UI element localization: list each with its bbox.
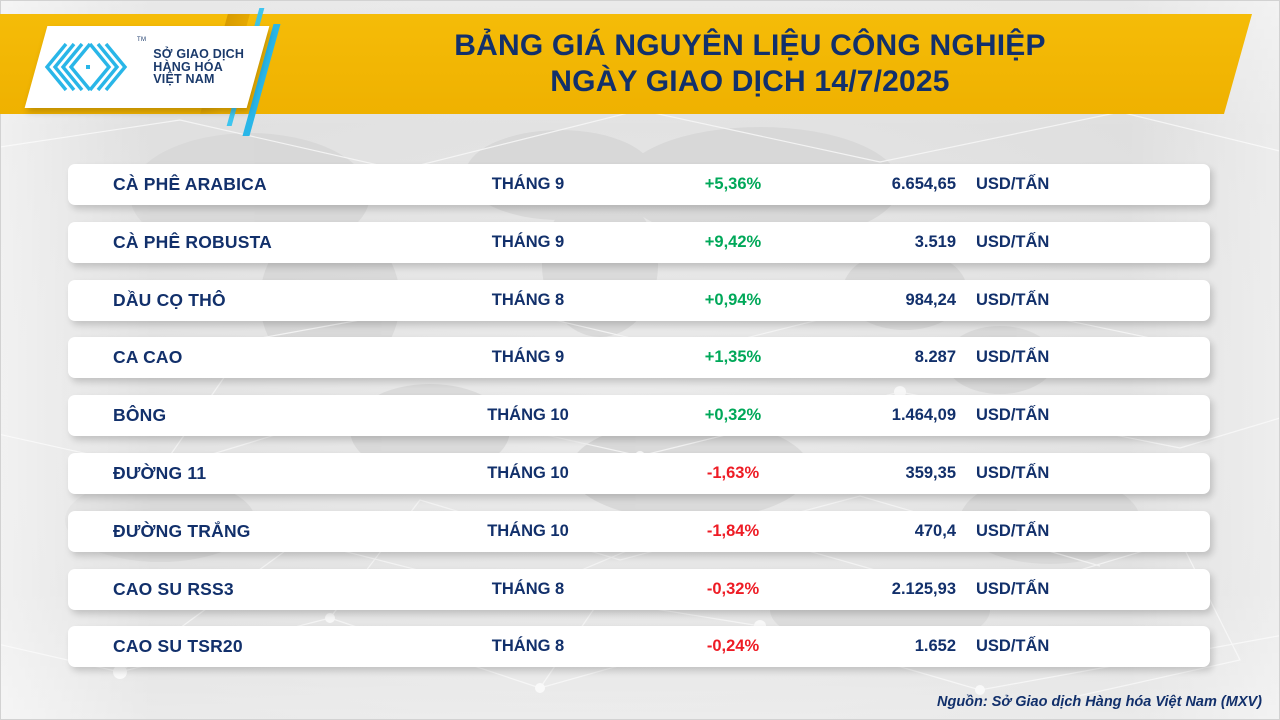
commodity-name: ĐƯỜNG TRẮNG <box>113 521 251 542</box>
contract-month: THÁNG 9 <box>408 233 648 252</box>
logo-wordmark: SỞ GIAO DỊCH HÀNG HÓA VIỆT NAM <box>153 48 244 86</box>
trademark-symbol: TM <box>137 37 146 43</box>
price-unit: USD/TẤN <box>976 406 1049 425</box>
table-row[interactable]: CAO SU RSS3THÁNG 8-0,32%2.125,93USD/TẤN <box>68 569 1210 610</box>
logo-line-1: SỞ GIAO DỊCH <box>153 48 244 61</box>
contract-month: THÁNG 10 <box>408 406 648 425</box>
commodity-name: BÔNG <box>113 405 166 426</box>
table-row[interactable]: CAO SU TSR20THÁNG 8-0,24%1.652USD/TẤN <box>68 626 1210 667</box>
price-value: 1.464,09 <box>748 406 956 425</box>
contract-month: THÁNG 10 <box>408 522 648 541</box>
price-board-screen: TM SỞ GIAO DỊCH HÀNG HÓA VIỆT NAM BẢNG G… <box>0 0 1280 720</box>
mxv-logo-icon <box>44 40 130 94</box>
contract-month: THÁNG 8 <box>408 637 648 656</box>
price-table: CÀ PHÊ ARABICATHÁNG 9+5,36%6.654,65USD/T… <box>68 164 1210 684</box>
price-value: 3.519 <box>748 233 956 252</box>
table-row[interactable]: ĐƯỜNG TRẮNGTHÁNG 10-1,84%470,4USD/TẤN <box>68 511 1210 552</box>
price-value: 2.125,93 <box>748 580 956 599</box>
table-row[interactable]: CA CAOTHÁNG 9+1,35%8.287USD/TẤN <box>68 337 1210 378</box>
price-value: 6.654,65 <box>748 175 956 194</box>
header-banner: TM SỞ GIAO DỊCH HÀNG HÓA VIỆT NAM BẢNG G… <box>0 14 1280 114</box>
contract-month: THÁNG 10 <box>408 464 648 483</box>
price-unit: USD/TẤN <box>976 464 1049 483</box>
logo-line-3: VIỆT NAM <box>153 73 244 86</box>
table-row[interactable]: ĐƯỜNG 11THÁNG 10-1,63%359,35USD/TẤN <box>68 453 1210 494</box>
table-row[interactable]: BÔNGTHÁNG 10+0,32%1.464,09USD/TẤN <box>68 395 1210 436</box>
title-line-1: BẢNG GIÁ NGUYÊN LIỆU CÔNG NGHIỆP <box>454 29 1045 63</box>
price-unit: USD/TẤN <box>976 348 1049 367</box>
commodity-name: DẦU CỌ THÔ <box>113 290 226 311</box>
table-row[interactable]: DẦU CỌ THÔTHÁNG 8+0,94%984,24USD/TẤN <box>68 280 1210 321</box>
price-unit: USD/TẤN <box>976 580 1049 599</box>
price-value: 8.287 <box>748 348 956 367</box>
source-note: Nguồn: Sở Giao dịch Hàng hóa Việt Nam (M… <box>937 694 1262 710</box>
contract-month: THÁNG 8 <box>408 580 648 599</box>
contract-month: THÁNG 9 <box>408 175 648 194</box>
commodity-name: CÀ PHÊ ARABICA <box>113 174 267 195</box>
commodity-name: CAO SU RSS3 <box>113 579 234 600</box>
table-row[interactable]: CÀ PHÊ ARABICATHÁNG 9+5,36%6.654,65USD/T… <box>68 164 1210 205</box>
price-unit: USD/TẤN <box>976 522 1049 541</box>
contract-month: THÁNG 8 <box>408 291 648 310</box>
contract-month: THÁNG 9 <box>408 348 648 367</box>
price-value: 1.652 <box>748 637 956 656</box>
page-title: BẢNG GIÁ NGUYÊN LIỆU CÔNG NGHIỆP NGÀY GI… <box>300 14 1200 114</box>
logo: TM SỞ GIAO DỊCH HÀNG HÓA VIỆT NAM <box>44 28 254 106</box>
price-unit: USD/TẤN <box>976 637 1049 656</box>
title-line-2: NGÀY GIAO DỊCH 14/7/2025 <box>550 65 949 99</box>
table-row[interactable]: CÀ PHÊ ROBUSTATHÁNG 9+9,42%3.519USD/TẤN <box>68 222 1210 263</box>
price-unit: USD/TẤN <box>976 175 1049 194</box>
commodity-name: CA CAO <box>113 347 183 368</box>
commodity-name: CÀ PHÊ ROBUSTA <box>113 232 272 253</box>
price-unit: USD/TẤN <box>976 291 1049 310</box>
price-value: 984,24 <box>748 291 956 310</box>
price-value: 470,4 <box>748 522 956 541</box>
price-unit: USD/TẤN <box>976 233 1049 252</box>
commodity-name: CAO SU TSR20 <box>113 636 243 657</box>
price-value: 359,35 <box>748 464 956 483</box>
commodity-name: ĐƯỜNG 11 <box>113 463 206 484</box>
